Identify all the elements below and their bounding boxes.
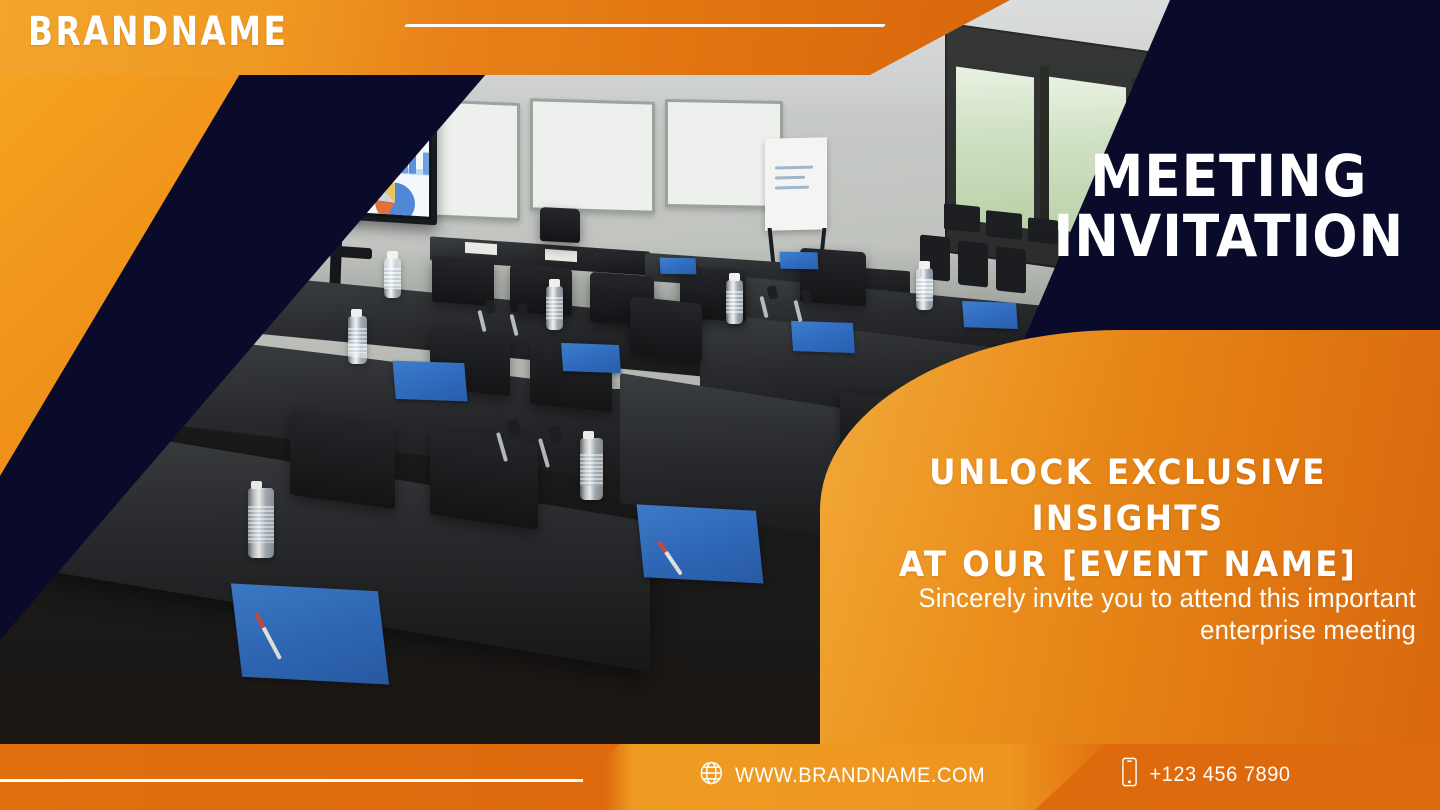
top-banner-rule (404, 24, 886, 27)
globe-icon (698, 759, 725, 793)
headline-line-1: UNLOCK EXCLUSIVE INSIGHTS (929, 453, 1327, 539)
brand-logo: BRANDNAME (28, 9, 288, 55)
page-title: MEETING INVITATION (1036, 146, 1422, 266)
contact-phone[interactable]: +123 456 7890 (1120, 757, 1291, 793)
footer-rule (0, 779, 583, 782)
invitation-subtext: Sincerely invite you to attend this impo… (850, 582, 1416, 646)
phone-label: +123 456 7890 (1149, 763, 1290, 787)
title-line-2: INVITATION (1036, 206, 1422, 266)
website-label: WWW.BRANDNAME.COM (735, 764, 985, 788)
mobile-phone-icon (1120, 757, 1139, 793)
meeting-invitation-poster: MEETING INVITATION UNLOCK EXCLUSIVE INSI… (0, 0, 1440, 810)
contact-website[interactable]: WWW.BRANDNAME.COM (698, 759, 985, 793)
title-line-1: MEETING (1090, 142, 1367, 210)
headline: UNLOCK EXCLUSIVE INSIGHTS AT OUR [EVENT … (858, 450, 1397, 588)
headline-line-2: AT OUR [EVENT NAME] (899, 545, 1357, 585)
